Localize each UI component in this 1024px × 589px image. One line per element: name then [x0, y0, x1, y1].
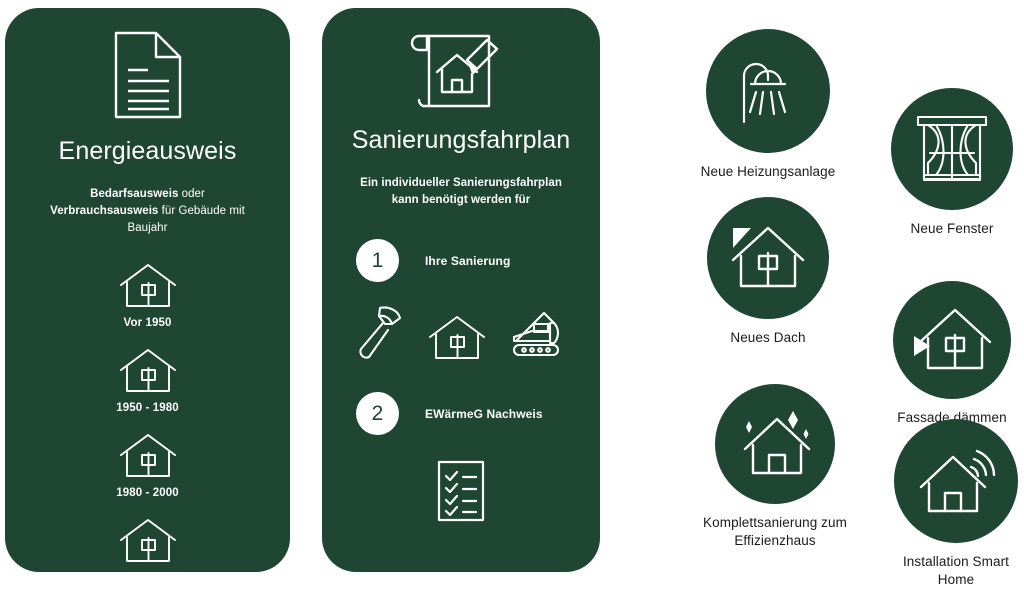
step-badge-2: 2 [356, 392, 399, 435]
measure-item-fassade[interactable]: Fassade dämmen [887, 281, 1017, 427]
year-block-3: 1980 - 2000 [5, 432, 290, 499]
house-sparkle-icon [733, 407, 817, 481]
step-2-icon-row [322, 459, 600, 523]
house-icon [117, 347, 179, 395]
subtitle-line-2: kann benötigt werden für [392, 194, 531, 206]
measure-item-fenster[interactable]: Neue Fenster [884, 88, 1020, 238]
card-sanierungsfahrplan: Sanierungsfahrplan Ein individueller San… [322, 8, 600, 572]
infographic-canvas: Energieausweis Bedarfsausweis oder Verbr… [0, 0, 1024, 589]
year-label-3: 1980 - 2000 [116, 487, 179, 499]
house-icon [117, 517, 179, 565]
card-subtitle-sanierungsfahrplan: Ein individueller Sanierungsfahrplan kan… [345, 175, 577, 210]
checklist-icon [435, 459, 487, 523]
shower-icon [732, 54, 804, 128]
step-row-2: 2 EWärmeG Nachweis [322, 392, 600, 435]
house-icon [117, 432, 179, 480]
subtitle-bold-verbrauchsausweis: Verbrauchsausweis [50, 205, 158, 217]
document-icon [5, 30, 290, 120]
measure-label-smarthome: Installation Smart Home [903, 553, 1009, 589]
measure-circle-fenster [891, 88, 1013, 210]
house-icon [426, 314, 488, 362]
measure-label-dach: Neues Dach [730, 329, 805, 347]
subtitle-bold-bedarfsausweis: Bedarfsausweis [90, 188, 178, 200]
measure-item-komplett[interactable]: Komplettsanierung zum Effizienzhaus [688, 384, 862, 550]
page-title-sanierungsfahrplan: Sanierungsfahrplan [322, 126, 600, 155]
card-subtitle-energieausweis: Bedarfsausweis oder Verbrauchsausweis fü… [40, 186, 256, 238]
card-energieausweis: Energieausweis Bedarfsausweis oder Verbr… [5, 8, 290, 572]
blueprint-pencil-icon [322, 30, 600, 112]
page-title-energieausweis: Energieausweis [5, 137, 290, 166]
year-block-2: 1950 - 1980 [5, 347, 290, 414]
measure-label-komplett: Komplettsanierung zum Effizienzhaus [703, 514, 847, 550]
subtitle-line-1: Ein individueller Sanierungsfahrplan [360, 177, 562, 189]
year-label-4: Ab 2000 [125, 572, 170, 584]
measure-label-heizung: Neue Heizungsanlage [701, 163, 836, 181]
year-label-1: Vor 1950 [124, 317, 172, 329]
year-block-1: Vor 1950 [5, 262, 290, 329]
step-badge-1: 1 [356, 239, 399, 282]
step-row-1: 1 Ihre Sanierung [322, 239, 600, 282]
measure-item-smarthome[interactable]: Installation Smart Home [886, 419, 1024, 589]
measure-item-heizung[interactable]: Neue Heizungsanlage [688, 29, 848, 181]
year-block-4: Ab 2000 [5, 517, 290, 584]
subtitle-text-gebaeude: für Gebäude mit [158, 205, 244, 217]
measure-label-fenster: Neue Fenster [911, 220, 994, 238]
measure-item-dach[interactable]: Neues Dach [699, 197, 837, 347]
measure-circle-smarthome [894, 419, 1018, 543]
excavator-icon [508, 308, 570, 362]
measure-circle-dach [707, 197, 829, 319]
measure-circle-heizung [706, 29, 830, 153]
window-curtains-icon [914, 113, 990, 185]
step-label-2: EWärmeG Nachweis [425, 407, 543, 421]
house-facade-icon [910, 304, 994, 376]
measure-circle-komplett [715, 384, 835, 504]
house-icon [117, 262, 179, 310]
subtitle-text-baujahr: Baujahr [128, 222, 168, 234]
hammer-icon [352, 304, 406, 362]
step-label-1: Ihre Sanierung [425, 254, 510, 268]
year-label-2: 1950 - 1980 [116, 402, 179, 414]
step-1-icon-row [322, 304, 600, 362]
house-wifi-icon [913, 443, 999, 519]
house-roof-icon [727, 222, 809, 294]
measure-circle-fassade [893, 281, 1011, 399]
subtitle-text-oder: oder [178, 188, 204, 200]
